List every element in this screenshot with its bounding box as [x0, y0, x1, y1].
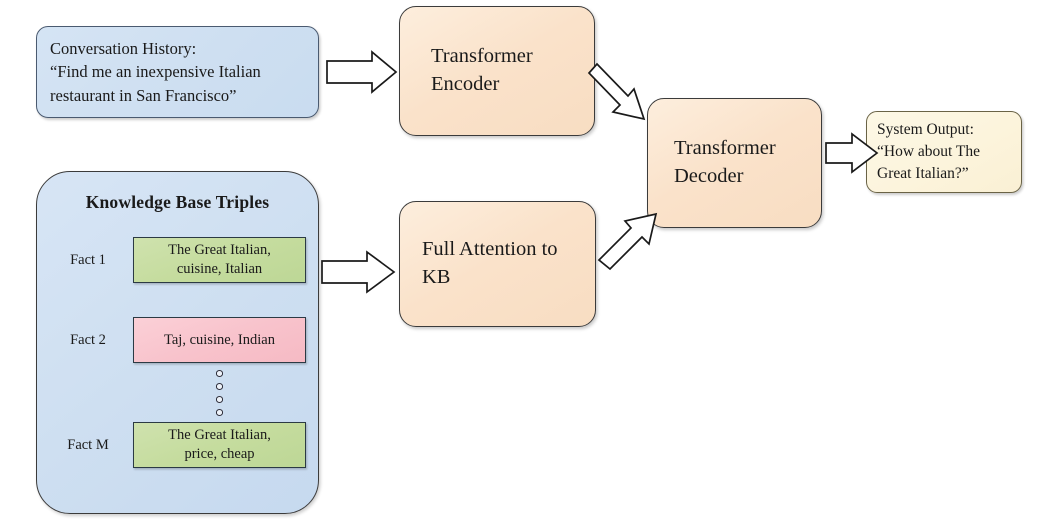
arrow-history-to-encoder: [327, 52, 396, 92]
knowledge-base-fact-row: Fact M The Great Italian, price, cheap: [37, 422, 318, 468]
full-attention-kb-box: Full Attention to KB: [399, 201, 596, 327]
ellipsis-dot: [216, 370, 224, 377]
knowledge-base-panel: Knowledge Base Triples Fact 1 The Great …: [36, 171, 319, 514]
conversation-history-heading: Conversation History:: [50, 37, 196, 60]
fact-triple-box: The Great Italian, cuisine, Italian: [133, 237, 306, 283]
vertical-ellipsis-icon: [133, 370, 306, 416]
fact-triple-box: Taj, cuisine, Indian: [133, 317, 306, 363]
fact-triple-line1: The Great Italian,: [168, 426, 271, 445]
ellipsis-dot: [216, 396, 224, 403]
fact-label: Fact 2: [37, 332, 133, 349]
full-attention-kb-label-line1: Full Attention to: [422, 236, 558, 264]
conversation-history-utterance-line1: “Find me an inexpensive Italian: [50, 60, 261, 83]
fact-triple-line2: price, cheap: [184, 445, 254, 464]
transformer-decoder-box: Transformer Decoder: [647, 98, 822, 228]
transformer-encoder-box: Transformer Encoder: [399, 6, 595, 136]
transformer-decoder-label-line1: Transformer: [674, 135, 776, 163]
arrow-kb-to-attention: [322, 252, 394, 292]
fact-label: Fact 1: [37, 252, 133, 269]
transformer-decoder-label-line2: Decoder: [674, 163, 743, 191]
system-output-heading: System Output:: [877, 119, 974, 141]
conversation-history-utterance-line2: restaurant in San Francisco”: [50, 84, 236, 107]
fact-triple-line2: cuisine, Italian: [177, 260, 262, 279]
system-output-response-line1: “How about The: [877, 141, 980, 163]
knowledge-base-fact-row: Fact 2 Taj, cuisine, Indian: [37, 317, 318, 363]
full-attention-kb-label-line2: KB: [422, 264, 450, 292]
arrow-encoder-to-decoder: [589, 64, 644, 119]
transformer-encoder-label-line1: Transformer: [431, 43, 533, 71]
arrow-attention-to-decoder: [599, 214, 656, 269]
system-output-response-line2: Great Italian?”: [877, 163, 969, 185]
conversation-history-box: Conversation History: “Find me an inexpe…: [36, 26, 319, 118]
fact-triple-line1: The Great Italian,: [168, 241, 271, 260]
ellipsis-dot: [216, 383, 224, 390]
fact-triple-box: The Great Italian, price, cheap: [133, 422, 306, 468]
knowledge-base-fact-row: Fact 1 The Great Italian, cuisine, Itali…: [37, 237, 318, 283]
transformer-encoder-label-line2: Encoder: [431, 71, 499, 99]
knowledge-base-title: Knowledge Base Triples: [37, 192, 318, 213]
fact-label: Fact M: [37, 437, 133, 454]
ellipsis-dot: [216, 409, 224, 416]
fact-triple-line1: Taj, cuisine, Indian: [164, 331, 275, 350]
architecture-diagram: Conversation History: “Find me an inexpe…: [0, 0, 1042, 520]
system-output-box: System Output: “How about The Great Ital…: [866, 111, 1022, 193]
